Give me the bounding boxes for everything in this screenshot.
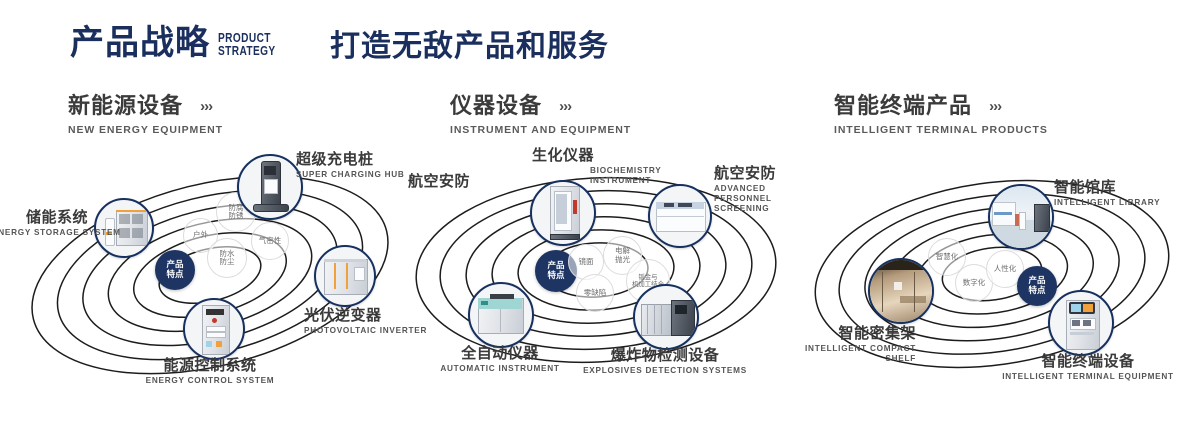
product-image-explosives-detection [635, 286, 697, 348]
node-label-cn: 超级充电桩 [296, 152, 405, 168]
product-image-personnel-screening [650, 186, 710, 246]
page-title-english-line2: STRATEGY [218, 44, 276, 57]
node-label-en: INTELLIGENT TERMINAL EQUIPMENT [980, 372, 1196, 382]
section-heading-cn: 新能源设备 ››› [68, 95, 223, 117]
cluster-new-energy: 产品 特点 户外 防腐 防锈 防水 防尘 气密性 [0, 150, 400, 420]
node-label-cn: 智能终端设备 [980, 354, 1196, 370]
node-photo-pv-inverter[interactable] [314, 245, 376, 307]
node-label-cn: 储能系统 [0, 210, 88, 226]
section-heading-intelligent: 智能终端产品 ››› INTELLIGENT TERMINAL PRODUCTS [834, 95, 1048, 136]
node-label-en: BIOCHEMISTRY INSTRUMENT [590, 166, 648, 187]
cluster-intelligent-terminal: 智慧化 数字化 人性化 产品 特点 智能馆库 INTELLIGENT LIBRA [800, 150, 1200, 420]
section-heading-instrument: 仪器设备 ››› INSTRUMENT AND EQUIPMENT [450, 95, 631, 136]
feature-bubble-zero-defect: 零缺陷 [576, 274, 614, 312]
chevron-right-icon: ››› [559, 99, 571, 114]
section-heading-cn-text: 新能源设备 [68, 93, 183, 118]
feature-bubble-text: 智慧化 [936, 253, 959, 261]
feature-bubble-waterproof: 防水 防尘 [207, 238, 247, 278]
node-photo-automatic-instrument[interactable] [468, 282, 534, 348]
node-label-en: ENERGY STORAGE SYSTEM [0, 228, 88, 238]
feature-bubble-airtight: 气密性 [251, 222, 289, 260]
node-label-cn: 航空安防 [408, 174, 470, 190]
node-label-automatic-instrument: 全自动仪器 AUTOMATIC INSTRUMENT [410, 346, 590, 374]
headline: 打造无敌产品和服务 [330, 32, 609, 62]
node-label-cn: 能源控制系统 [100, 358, 320, 374]
node-label-cn: 全自动仪器 [410, 346, 590, 362]
node-label-en: EXPLOSIVES DETECTION SYSTEMS [566, 366, 764, 376]
feature-bubble-text: 零缺陷 [584, 289, 607, 297]
node-label-cn: 智能密集架 [784, 326, 916, 342]
node-photo-biochemistry[interactable] [530, 180, 596, 246]
product-image-pv-inverter [316, 247, 374, 305]
poster-canvas: 产品战略 PRODUCT STRATEGY 打造无敌产品和服务 新能源设备 ››… [0, 0, 1200, 422]
node-photo-personnel-screening[interactable] [648, 184, 712, 248]
node-label-en: SUPER CHARGING HUB [296, 170, 405, 180]
header: 产品战略 PRODUCT STRATEGY 打造无敌产品和服务 [0, 0, 1200, 90]
node-label-energy-storage: 储能系统 ENERGY STORAGE SYSTEM [0, 210, 88, 238]
feature-bubble-text: 数字化 [963, 279, 986, 287]
node-photo-charging-hub[interactable] [237, 154, 303, 220]
node-label-cn: 爆炸物检测设备 [566, 348, 764, 364]
product-image-biochemistry [532, 182, 594, 244]
node-label-en: ADVANCED PERSONNEL SCREENING [714, 184, 802, 215]
feature-bubble-line2: 防尘 [220, 258, 235, 266]
node-photo-compact-shelf[interactable] [868, 258, 934, 324]
node-photo-intelligent-library[interactable] [988, 184, 1054, 250]
feature-bubble-text: 户外 [193, 231, 208, 239]
section-heading-en: NEW ENERGY EQUIPMENT [68, 124, 223, 136]
section-heading-cn-text: 仪器设备 [450, 93, 542, 118]
node-label-explosives-detection: 爆炸物检测设备 EXPLOSIVES DETECTION SYSTEMS [566, 348, 764, 376]
feature-bubble-line1: 钣金与 [638, 274, 657, 281]
node-photo-explosives-detection[interactable] [633, 284, 699, 350]
feature-bubble-text: 气密性 [259, 237, 282, 245]
node-label-personnel-screening: 航空安防 ADVANCED PERSONNEL SCREENING [714, 166, 802, 215]
node-label-charging-hub: 超级充电桩 SUPER CHARGING HUB [296, 152, 405, 180]
chevron-right-icon: ››› [200, 99, 212, 114]
chevron-right-icon: ››› [989, 99, 1001, 114]
node-label-energy-control: 能源控制系统 ENERGY CONTROL SYSTEM [100, 358, 320, 386]
core-bubble-product-features: 产品 特点 [155, 250, 195, 290]
node-label-en: INTELLIGENT LIBRARY [1054, 198, 1160, 208]
node-label-compact-shelf: 智能密集架 INTELLIGENT COMPACT SHELF [784, 326, 916, 364]
section-heading-cn: 智能终端产品 ››› [834, 95, 1048, 117]
node-label-en: INTELLIGENT COMPACT SHELF [784, 344, 916, 365]
node-label-cn: 航空安防 [714, 166, 802, 182]
node-label-aviation-security-left: 航空安防 [408, 174, 470, 190]
feature-bubble-text: 镜面 [579, 258, 594, 266]
node-label-intelligent-library: 智能馆库 INTELLIGENT LIBRARY [1054, 180, 1160, 208]
product-image-intelligent-library [990, 186, 1052, 248]
node-label-cn: 智能馆库 [1054, 180, 1160, 196]
section-heading-new-energy: 新能源设备 ››› NEW ENERGY EQUIPMENT [68, 95, 223, 136]
cluster-instrument: 产品 特点 镜面 电解 抛光 零缺陷 钣金与 机加工结合 航空安防 [400, 150, 800, 420]
core-bubble-line2: 特点 [547, 271, 564, 281]
section-heading-en: INSTRUMENT AND EQUIPMENT [450, 124, 631, 136]
section-heading-cn-text: 智能终端产品 [834, 93, 972, 118]
section-heading-en: INTELLIGENT TERMINAL PRODUCTS [834, 124, 1048, 136]
core-bubble-line2: 特点 [166, 270, 183, 280]
page-title: 产品战略 [70, 26, 210, 60]
feature-bubble-line2: 抛光 [615, 256, 630, 264]
product-image-compact-shelf [870, 260, 932, 322]
node-photo-energy-control[interactable] [183, 298, 245, 360]
node-label-biochemistry: 生化仪器 BIOCHEMISTRY INSTRUMENT [478, 148, 648, 186]
node-label-terminal-equipment: 智能终端设备 INTELLIGENT TERMINAL EQUIPMENT [980, 354, 1196, 382]
node-photo-terminal-equipment[interactable] [1048, 290, 1114, 356]
node-label-en: AUTOMATIC INSTRUMENT [410, 364, 590, 374]
feature-bubble-text: 人性化 [994, 265, 1017, 273]
node-label-cn: 生化仪器 [478, 148, 648, 164]
section-heading-cn: 仪器设备 ››› [450, 95, 631, 117]
product-image-automatic-instrument [470, 284, 532, 346]
product-image-terminal-equipment [1050, 292, 1112, 354]
node-label-en: ENERGY CONTROL SYSTEM [100, 376, 320, 386]
product-image-charging-hub [239, 156, 301, 218]
product-image-energy-control [185, 300, 243, 358]
core-bubble-line2: 特点 [1028, 286, 1045, 296]
page-title-english: PRODUCT STRATEGY [218, 31, 276, 57]
